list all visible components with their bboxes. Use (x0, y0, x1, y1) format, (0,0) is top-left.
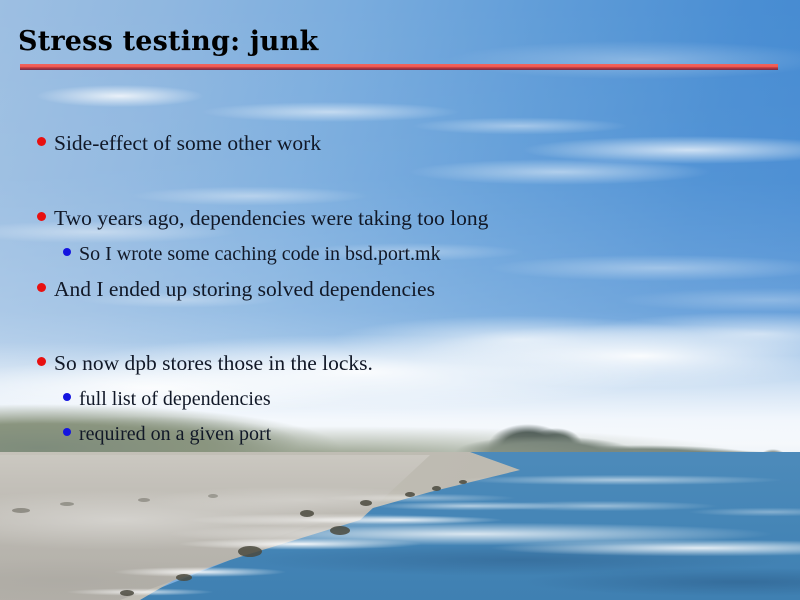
bullet-text: required on a given port (79, 422, 271, 446)
bullet-item: Two years ago, dependencies were taking … (37, 205, 488, 231)
bullet-dot-icon (63, 248, 71, 256)
presentation-slide: Stress testing: junk Side-effect of some… (0, 0, 800, 600)
bullet-text: And I ended up storing solved dependenci… (54, 276, 435, 302)
bullet-dot-icon (37, 357, 46, 366)
bullet-dot-icon (63, 428, 71, 436)
bullet-item: required on a given port (63, 422, 271, 446)
bullet-text: Two years ago, dependencies were taking … (54, 205, 488, 231)
bullet-item: full list of dependencies (63, 387, 271, 411)
bullet-dot-icon (63, 393, 71, 401)
bullet-text: Side-effect of some other work (54, 130, 321, 156)
bullet-dot-icon (37, 212, 46, 221)
bullet-item: Side-effect of some other work (37, 130, 321, 156)
slide-body: Side-effect of some other work Two years… (0, 0, 800, 600)
bullet-text: So I wrote some caching code in bsd.port… (79, 242, 441, 266)
bullet-text: So now dpb stores those in the locks. (54, 350, 373, 376)
bullet-dot-icon (37, 283, 46, 292)
bullet-item: So I wrote some caching code in bsd.port… (63, 242, 441, 266)
bullet-dot-icon (37, 137, 46, 146)
bullet-item: So now dpb stores those in the locks. (37, 350, 373, 376)
bullet-item: And I ended up storing solved dependenci… (37, 276, 435, 302)
bullet-text: full list of dependencies (79, 387, 271, 411)
